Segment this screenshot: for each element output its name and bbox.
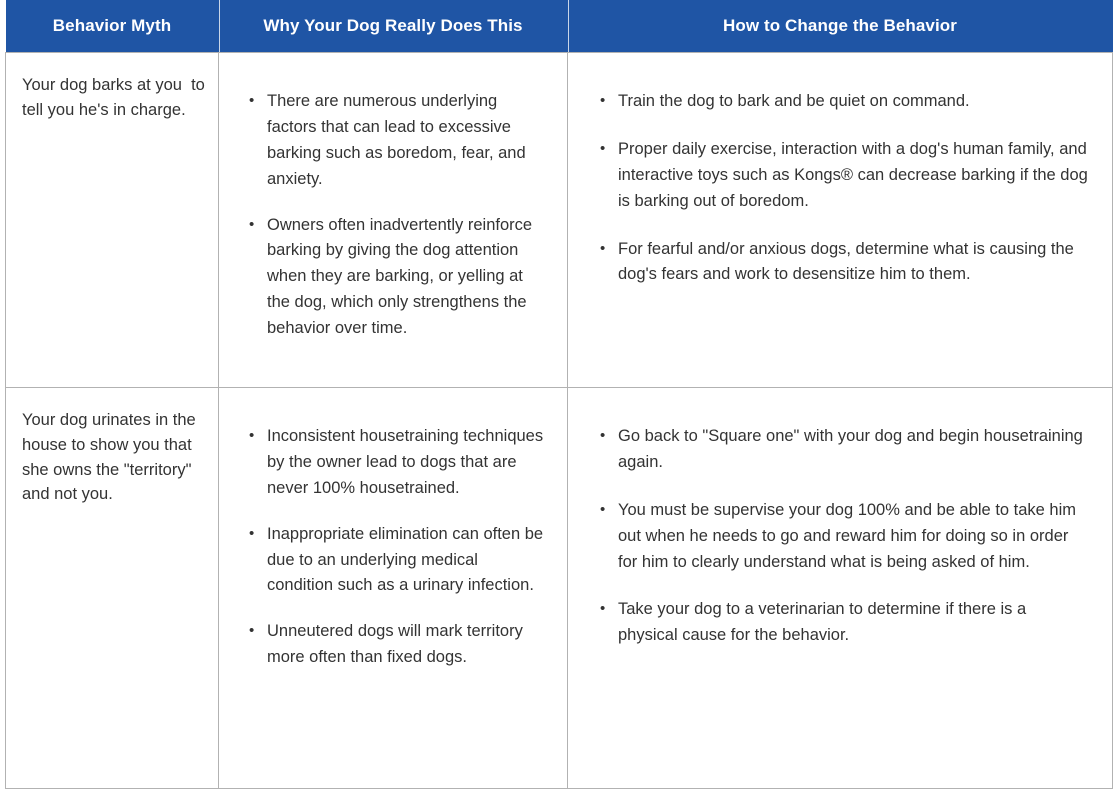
list-item: Proper daily exercise, interaction with … xyxy=(596,137,1088,215)
list-item: Inappropriate elimination can often be d… xyxy=(245,522,547,600)
myth-text-1: Your dog barks at you to tell you he's i… xyxy=(6,53,218,133)
list-item: Go back to "Square one" with your dog an… xyxy=(596,424,1088,476)
how-content-1: Train the dog to bark and be quiet on co… xyxy=(568,53,1112,320)
list-item: There are numerous underlying factors th… xyxy=(245,89,547,193)
how-bullet-list-1: Train the dog to bark and be quiet on co… xyxy=(596,89,1102,288)
myth-paragraph: Your dog urinates in the house to show y… xyxy=(22,408,206,507)
cell-myth-2: Your dog urinates in the house to show y… xyxy=(6,388,219,789)
myth-text-2: Your dog urinates in the house to show y… xyxy=(6,388,218,517)
cell-how-1: Train the dog to bark and be quiet on co… xyxy=(568,53,1113,388)
table-header-row: Behavior Myth Why Your Dog Really Does T… xyxy=(6,0,1113,53)
list-item: Unneutered dogs will mark territory more… xyxy=(245,619,547,671)
column-header-how-to-change-the-behavior: How to Change the Behavior xyxy=(568,0,1113,53)
table-header: Behavior Myth Why Your Dog Really Does T… xyxy=(6,0,1113,53)
list-item: You must be supervise your dog 100% and … xyxy=(596,498,1088,576)
table-body: Your dog barks at you to tell you he's i… xyxy=(6,53,1113,789)
cell-how-2: Go back to "Square one" with your dog an… xyxy=(568,388,1113,789)
why-content-2: Inconsistent housetraining techniques by… xyxy=(219,388,567,681)
why-bullet-list-2: Inconsistent housetraining techniques by… xyxy=(245,424,561,671)
myth-paragraph: Your dog barks at you to tell you he's i… xyxy=(22,73,206,123)
behavior-myth-table-container: Behavior Myth Why Your Dog Really Does T… xyxy=(0,0,1120,789)
list-item: For fearful and/or anxious dogs, determi… xyxy=(596,237,1088,289)
column-header-behavior-myth: Behavior Myth xyxy=(6,0,219,53)
list-item: Owners often inadvertently reinforce bar… xyxy=(245,213,547,342)
table-row: Your dog barks at you to tell you he's i… xyxy=(6,53,1113,388)
cell-why-2: Inconsistent housetraining techniques by… xyxy=(219,388,568,789)
why-bullet-list-1: There are numerous underlying factors th… xyxy=(245,89,561,342)
list-item: Take your dog to a veterinarian to deter… xyxy=(596,597,1088,649)
why-content-1: There are numerous underlying factors th… xyxy=(219,53,567,352)
how-bullet-list-2: Go back to "Square one" with your dog an… xyxy=(596,424,1102,649)
list-item: Train the dog to bark and be quiet on co… xyxy=(596,89,1088,115)
cell-myth-1: Your dog barks at you to tell you he's i… xyxy=(6,53,219,388)
how-content-2: Go back to "Square one" with your dog an… xyxy=(568,388,1112,681)
list-item: Inconsistent housetraining techniques by… xyxy=(245,424,547,502)
table-row: Your dog urinates in the house to show y… xyxy=(6,388,1113,789)
cell-why-1: There are numerous underlying factors th… xyxy=(219,53,568,388)
column-header-why-your-dog-really-does-this: Why Your Dog Really Does This xyxy=(219,0,568,53)
behavior-myth-table: Behavior Myth Why Your Dog Really Does T… xyxy=(5,0,1113,789)
